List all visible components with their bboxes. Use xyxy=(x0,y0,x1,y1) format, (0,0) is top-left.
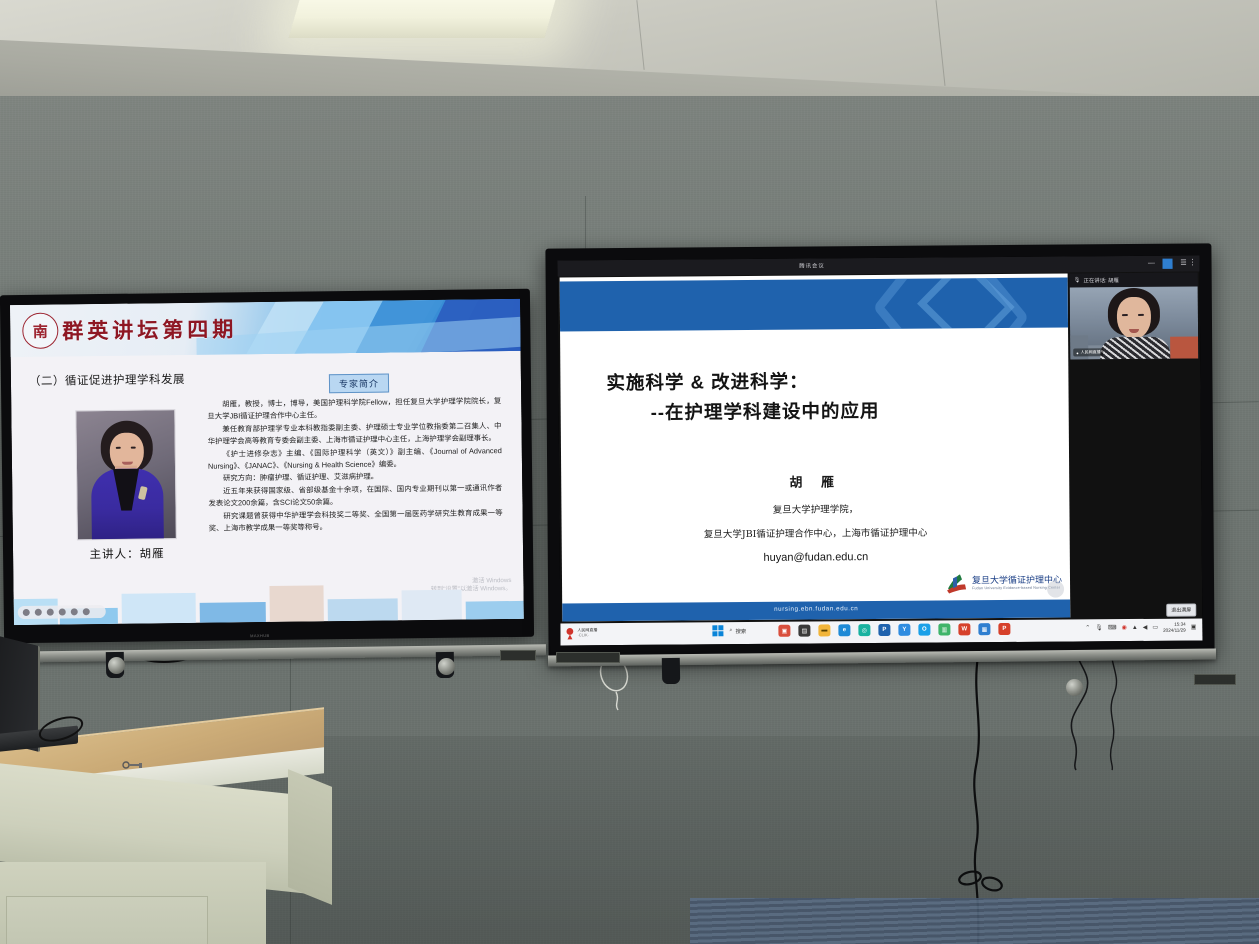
floor-air-vent xyxy=(690,898,1259,944)
broadcast-icon: ● xyxy=(1076,350,1078,355)
slide-footer-band: nursing.ebn.fudan.edu.cn xyxy=(562,600,1070,622)
left-display-brand: MAXHUB xyxy=(250,633,270,638)
wps-app-icon[interactable]: ▦ xyxy=(978,623,990,635)
bio-paragraph: 《护士进修杂志》主编、《国际护理科学（英文）》副主编、《Journal of A… xyxy=(208,445,502,473)
wifi-icon[interactable]: ▲ xyxy=(1132,625,1138,631)
taskbar-start-area[interactable]: ⌕ 搜索 xyxy=(712,625,746,636)
powerpoint-icon[interactable]: P xyxy=(878,624,890,636)
rail-connector-box xyxy=(500,650,536,661)
pointer-icon[interactable] xyxy=(59,608,66,615)
right-display-panel[interactable]: 腾讯会议 — ☰ ⋮ 实施科学 & 改进科学： --在护理学科建设中 xyxy=(557,255,1202,645)
right-display[interactable]: 腾讯会议 — ☰ ⋮ 实施科学 & 改进科学： --在护理学科建设中 xyxy=(545,243,1214,660)
minimize-icon[interactable]: — xyxy=(1147,260,1155,268)
edge-icon[interactable]: e xyxy=(838,624,850,636)
chevron-up-icon[interactable]: ⌃ xyxy=(1085,624,1090,631)
highlighter-icon[interactable] xyxy=(35,609,42,616)
presenter-toolbar[interactable] xyxy=(18,605,106,619)
left-display[interactable]: 南 群英讲坛第四期 （二）循证促进护理学科发展 专家简介 xyxy=(0,289,534,643)
browser-icon[interactable]: ◎ xyxy=(858,624,870,636)
keys-on-lectern xyxy=(122,757,144,765)
bio-paragraph: 兼任教育部护理学专业本科教指委副主委、护理硕士专业学位教指委第二召集人、中华护理… xyxy=(207,420,501,448)
wps-presentation-icon[interactable]: P xyxy=(998,623,1010,635)
rail-connector-box xyxy=(1194,674,1236,685)
bio-paragraph: 近五年来获得国家级、省部级基金十余项，在国际、国内专业期刊以第一或通讯作者发表论… xyxy=(208,482,502,510)
broadcast-app-sub: ·CLIK· xyxy=(577,632,597,637)
wechat-work-icon[interactable]: Y xyxy=(898,624,910,636)
bio-paragraph: 研究课题曾获得中华护理学会科技奖二等奖、全国第一届医药学研究生教育成果一等奖、上… xyxy=(209,507,503,535)
menu-icon[interactable]: ☰ xyxy=(1179,260,1187,268)
folder-icon[interactable]: ▤ xyxy=(798,625,810,637)
shared-slide-email: huyan@fudan.edu.cn xyxy=(562,550,1070,566)
lectern-base-inset xyxy=(6,896,208,944)
screenshot-root: 南 群英讲坛第四期 （二）循证促进护理学科发展 专家简介 xyxy=(0,0,1259,944)
rail-port-panel xyxy=(556,652,620,663)
shared-slide-url: nursing.ebn.fudan.edu.cn xyxy=(562,604,1070,615)
university-seal-icon: 南 xyxy=(22,313,58,349)
kebab-menu-icon[interactable]: ⋮ xyxy=(1188,258,1196,267)
taskbar-system-tray[interactable]: ⌃ 🎙 ⌨ ◉ ▲ ◀ ▭ 15:34 2024/11/29 ▣ xyxy=(1085,622,1196,634)
lectern-side-panel xyxy=(288,769,332,905)
broadcast-badge-text: 人民网直播 xyxy=(1081,349,1101,355)
windows-start-icon[interactable] xyxy=(712,625,723,636)
tencent-meeting-window[interactable]: 腾讯会议 — ☰ ⋮ 实施科学 & 改进科学： --在护理学科建设中 xyxy=(557,255,1202,645)
clock-date: 2024/11/29 xyxy=(1163,627,1186,633)
slide-section-title: （二）循证促进护理学科发展 xyxy=(29,371,185,389)
search-label: 搜索 xyxy=(735,627,746,635)
active-speaker-label-bar: 🎙 正在讲话: 胡雁 xyxy=(1070,273,1199,288)
exit-fullscreen-button[interactable]: 退出满屏 xyxy=(1166,604,1196,617)
slide-header-band xyxy=(560,278,1068,332)
speaker-caption: 主讲人：胡雁 xyxy=(59,545,195,563)
pen-icon[interactable] xyxy=(23,609,30,616)
slide-banner-title: 群英讲坛第四期 xyxy=(62,313,237,345)
microphone-icon[interactable]: 🎙 xyxy=(1095,624,1103,631)
keyboard-icon[interactable]: ⌨ xyxy=(1108,624,1117,631)
volume-icon[interactable]: ◀ xyxy=(1143,624,1148,631)
left-display-panel[interactable]: 南 群英讲坛第四期 （二）循证促进护理学科发展 专家简介 xyxy=(10,299,524,625)
expert-intro-badge: 专家简介 xyxy=(329,374,389,394)
taskbar-broadcast-app[interactable]: 人民网直播 ·CLIK· xyxy=(564,626,597,638)
speaker-bio: 胡雁，教授，博士，博导，美国护理科学院Fellow，担任复旦大学护理学院院长，复… xyxy=(207,395,503,535)
notes-icon[interactable]: ▥ xyxy=(938,623,950,635)
meeting-icon[interactable]: ▣ xyxy=(778,625,790,637)
rail-bracket xyxy=(662,658,680,684)
notification-icon[interactable]: ▣ xyxy=(1191,624,1197,631)
microphone-icon: 🎙 xyxy=(1074,277,1081,283)
rail-mount-knob xyxy=(438,658,455,675)
taskbar-clock[interactable]: 15:34 2024/11/29 xyxy=(1163,622,1186,633)
eraser-icon[interactable] xyxy=(47,609,54,616)
rail-mount-knob xyxy=(1066,679,1083,696)
slide-banner: 南 群英讲坛第四期 xyxy=(10,299,521,357)
shared-slide-title-2: --在护理学科建设中的应用 xyxy=(651,397,880,425)
shared-screen-content: 实施科学 & 改进科学： --在护理学科建设中的应用 胡 雁 复旦大学护理学院，… xyxy=(560,274,1071,622)
active-speaker-label: 正在讲话: 胡雁 xyxy=(1083,276,1118,284)
ceiling-light-panel xyxy=(289,0,560,38)
windows-taskbar[interactable]: 人民网直播 ·CLIK· ⌕ 搜索 ▣ ▤ ▬ xyxy=(560,618,1202,645)
taskbar-search[interactable]: ⌕ 搜索 xyxy=(729,627,746,635)
maximize-icon[interactable] xyxy=(1162,259,1172,269)
wps-writer-icon[interactable]: W xyxy=(958,623,970,635)
more-icon[interactable] xyxy=(83,608,90,615)
fudan-logo-icon xyxy=(945,572,969,594)
video-feed: ● 人民网直播 xyxy=(1070,286,1199,359)
shared-slide-author: 胡 雁 xyxy=(561,470,1069,493)
speaker-portrait xyxy=(75,409,177,540)
shared-slide-affiliation-2: 复旦大学JBI循证护理合作中心，上海市循证护理中心 xyxy=(562,524,1070,542)
bio-paragraph: 胡雁，教授，博士，博导，美国护理科学院Fellow，担任复旦大学护理学院院长，复… xyxy=(207,395,501,423)
shared-slide-title-1: 实施科学 & 改进科学： xyxy=(606,368,808,396)
shared-slide-affiliation-1: 复旦大学护理学院， xyxy=(561,500,1069,518)
qq-icon[interactable]: O xyxy=(918,624,930,636)
antivirus-icon[interactable]: ◉ xyxy=(1122,624,1127,631)
slide-watermark-circle xyxy=(1047,581,1064,598)
self-video-thumbnail[interactable]: 🎙 正在讲话: 胡雁 xyxy=(1070,273,1199,360)
battery-icon[interactable]: ▭ xyxy=(1152,624,1158,631)
taskbar-pinned-apps[interactable]: ▣ ▤ ▬ e ◎ P Y O ▥ W ▦ P xyxy=(778,623,1010,637)
broadcast-app-icon xyxy=(564,626,575,638)
slide-view-icon[interactable] xyxy=(71,608,78,615)
fudan-ebn-logo: 复旦大学循证护理中心 Fudan University Evidence-bas… xyxy=(945,572,1062,595)
search-icon: ⌕ xyxy=(729,627,732,634)
window-controls[interactable]: — ☰ xyxy=(1147,259,1187,269)
explorer-icon[interactable]: ▬ xyxy=(818,624,830,636)
broadcast-badge: ● 人民网直播 xyxy=(1073,348,1103,356)
left-slide: 南 群英讲坛第四期 （二）循证促进护理学科发展 专家简介 xyxy=(10,299,524,625)
rail-mount-knob xyxy=(108,657,125,674)
meeting-title: 腾讯会议 xyxy=(558,260,1067,272)
